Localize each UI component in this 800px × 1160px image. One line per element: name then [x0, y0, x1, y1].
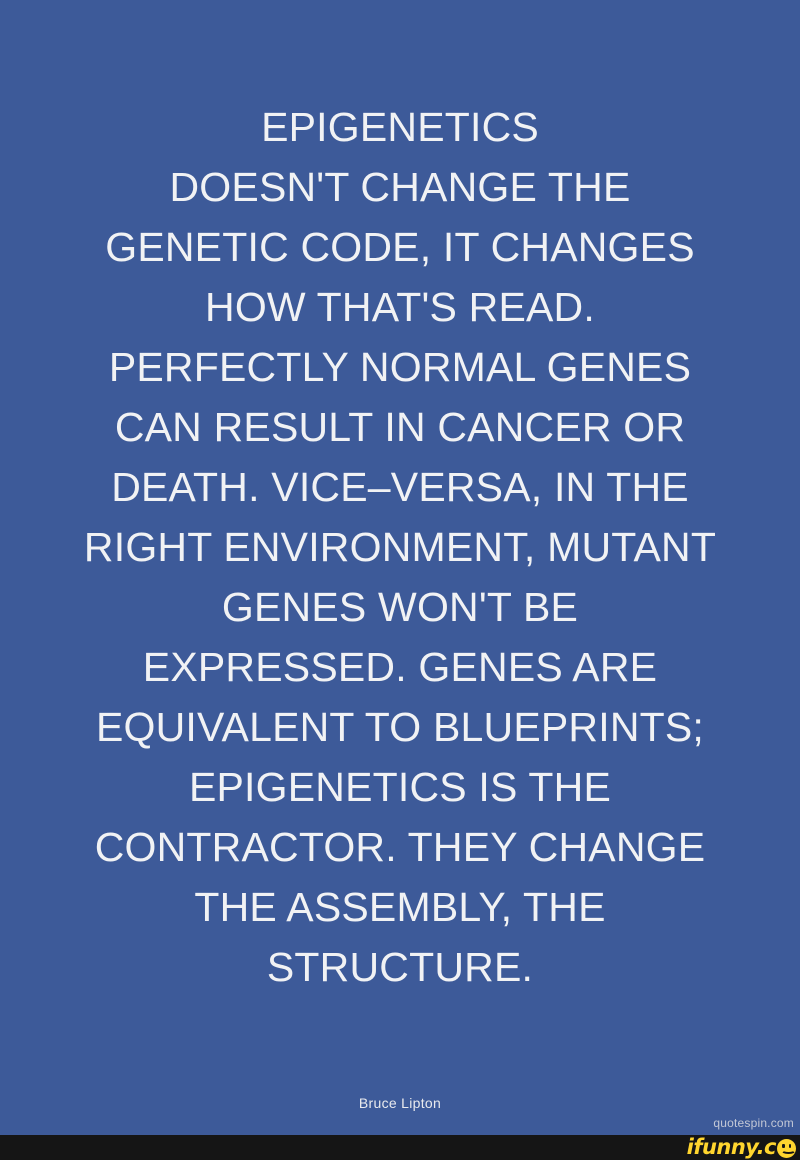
quote-line: CAN RESULT IN CANCER OR [50, 397, 750, 457]
site-watermark: quotespin.com [713, 1115, 794, 1131]
quote-text-block: EPIGENETICS DOESN'T CHANGE THE GENETIC C… [50, 97, 750, 997]
quote-line: CONTRACTOR. THEY CHANGE [50, 817, 750, 877]
quote-line: THE ASSEMBLY, THE [50, 877, 750, 937]
quote-author: Bruce Lipton [0, 1093, 800, 1113]
quote-line: STRUCTURE. [50, 937, 750, 997]
quote-line: EPIGENETICS IS THE [50, 757, 750, 817]
ifunny-logo-text: ifunny.c [687, 1136, 776, 1159]
quote-line: HOW THAT'S READ. [50, 277, 750, 337]
quote-line: DOESN'T CHANGE THE [50, 157, 750, 217]
quote-line: EQUIVALENT TO BLUEPRINTS; [50, 697, 750, 757]
quote-line: EPIGENETICS [50, 97, 750, 157]
smiley-face-icon [777, 1139, 796, 1158]
quote-line: PERFECTLY NORMAL GENES [50, 337, 750, 397]
quote-line: RIGHT ENVIRONMENT, MUTANT [50, 517, 750, 577]
quote-background: EPIGENETICS DOESN'T CHANGE THE GENETIC C… [0, 0, 800, 1135]
ifunny-logo[interactable]: ifunny.c [687, 1136, 796, 1159]
quote-line: EXPRESSED. GENES ARE [50, 637, 750, 697]
quote-line: GENETIC CODE, IT CHANGES [50, 217, 750, 277]
quote-line: GENES WON'T BE [50, 577, 750, 637]
quote-line: DEATH. VICE–VERSA, IN THE [50, 457, 750, 517]
quote-poster: EPIGENETICS DOESN'T CHANGE THE GENETIC C… [0, 0, 800, 1160]
brand-footer-bar: ifunny.c [0, 1135, 800, 1160]
